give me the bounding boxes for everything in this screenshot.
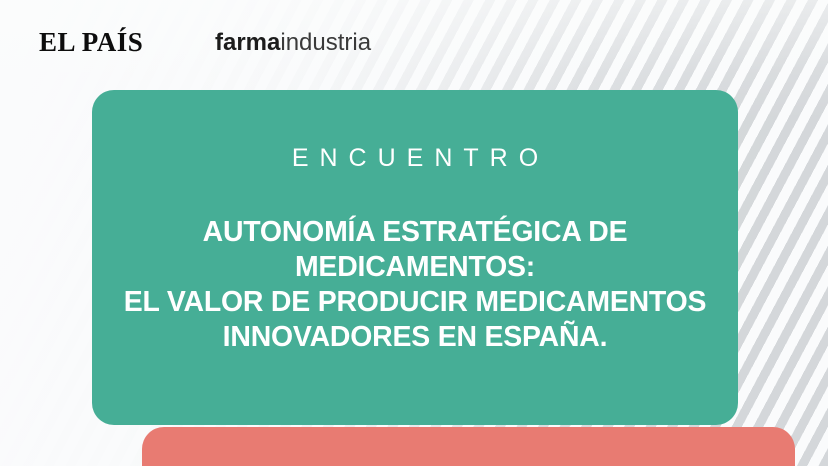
promo-banner: EL PAÍS farmaindustria ENCUENTRO AUTONOM…: [0, 0, 828, 466]
event-title: AUTONOMÍA ESTRATÉGICA DE MEDICAMENTOS: E…: [106, 215, 724, 355]
event-title-line-1: AUTONOMÍA ESTRATÉGICA DE: [112, 215, 718, 250]
farmaindustria-logo[interactable]: farmaindustria: [215, 31, 371, 55]
event-title-line-2: MEDICAMENTOS:: [112, 250, 718, 285]
green-event-card: ENCUENTRO AUTONOMÍA ESTRATÉGICA DE MEDIC…: [92, 90, 738, 425]
header-logo-bar: EL PAÍS farmaindustria: [0, 0, 828, 90]
event-kicker: ENCUENTRO: [92, 146, 738, 171]
farmaindustria-logo-bold-part: farma: [215, 29, 280, 56]
event-title-line-4: INNOVADORES EN ESPAÑA.: [112, 320, 718, 355]
el-pais-logo[interactable]: EL PAÍS: [39, 29, 143, 56]
farmaindustria-logo-light-part: industria: [280, 29, 371, 56]
coral-card: [142, 427, 795, 466]
event-title-line-3: EL VALOR DE PRODUCIR MEDICAMENTOS: [112, 285, 718, 320]
